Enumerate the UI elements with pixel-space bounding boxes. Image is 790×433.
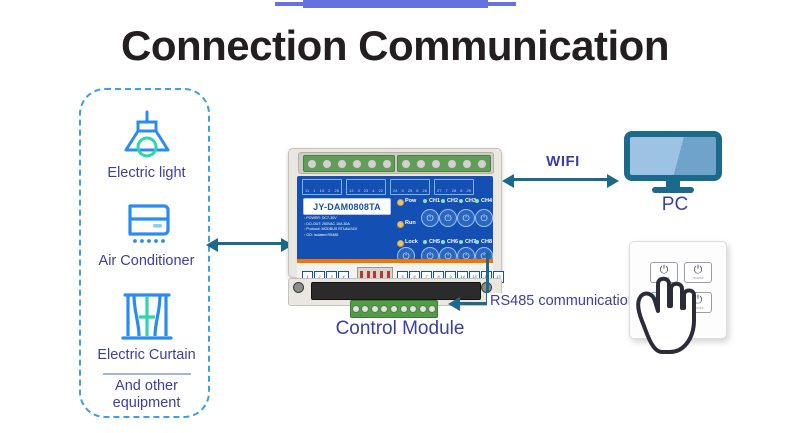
- ch8-led: [475, 240, 479, 244]
- dip-toggle: [373, 271, 376, 278]
- pow-led: [397, 199, 404, 206]
- monitor-stand-base: [652, 187, 694, 193]
- top-accent-bar: [303, 0, 488, 8]
- ch3-led: [459, 199, 463, 203]
- curtain-icon: [81, 288, 212, 346]
- ceiling-lamp-icon: [81, 108, 212, 164]
- relay-pin: 22: [379, 188, 383, 193]
- device-item-electric-curtain[interactable]: Electric Curtain: [81, 288, 212, 364]
- ch4-label: CH4: [481, 198, 492, 204]
- relay-block: 13 3 23 4 22: [346, 179, 386, 195]
- terminal-screw: [462, 159, 472, 169]
- device-label: Air Conditioner: [81, 253, 212, 270]
- terminal-screw: [367, 159, 377, 169]
- terminal-screw: [322, 159, 332, 169]
- ch1-led: [423, 199, 427, 203]
- device-list-panel: Electric light Air Conditioner: [79, 88, 210, 418]
- relay-pin: 11: [305, 188, 309, 193]
- arrow-head-left-icon: [206, 238, 218, 252]
- connector-screw: [419, 305, 427, 313]
- connector-screw: [400, 305, 408, 313]
- device-item-air-conditioner[interactable]: Air Conditioner: [81, 200, 212, 270]
- run-label: Run: [405, 220, 416, 226]
- connector-screw: [361, 305, 369, 313]
- ch8-label: CH8: [481, 239, 492, 245]
- top-terminal-block-left[interactable]: [303, 155, 395, 172]
- connector-screw: [409, 305, 417, 313]
- terminal-screw: [401, 159, 411, 169]
- device-label: Electric light: [81, 165, 212, 182]
- ch5-label: CH5: [429, 239, 440, 245]
- relay-pin: 15: [320, 188, 324, 193]
- connector-screw: [428, 305, 436, 313]
- pc-caption: PC: [625, 194, 725, 216]
- relay-pin: 3: [358, 188, 360, 193]
- other-equipment-line2: equipment: [81, 395, 212, 412]
- panel-divider: [103, 373, 191, 375]
- housing-screw: [293, 282, 304, 293]
- terminal-screw: [447, 159, 457, 169]
- relay-pin: 4: [372, 188, 374, 193]
- ch3-button[interactable]: ⏻: [457, 209, 475, 227]
- pc-monitor: [624, 131, 722, 193]
- terminal-screw: [416, 159, 426, 169]
- pow-label: Pow: [405, 198, 416, 204]
- dip-toggle: [387, 271, 390, 278]
- control-module: 11 1 15 2 25 13 3 23 4 22 24 5 25: [288, 140, 500, 308]
- arrow-head-right-icon: [607, 174, 619, 188]
- monitor-icon: [624, 131, 722, 181]
- relay-pin: 28: [452, 188, 456, 193]
- relay-block: 24 5 25 6 26: [390, 179, 430, 195]
- relay-block: 27 7 28 8 29: [434, 179, 474, 195]
- terminal-screw: [307, 159, 317, 169]
- module-spec-list: POWER: DC7-30V DO-OUT: 250VAC 10A 30A Pr…: [304, 216, 396, 238]
- connector-screw: [390, 305, 398, 313]
- module-top-rail: [298, 152, 494, 174]
- devices-to-module-arrow: [216, 242, 284, 245]
- module-front-face: 11 1 15 2 25 13 3 23 4 22 24 5 25: [297, 176, 493, 261]
- terminal-screw: [431, 159, 441, 169]
- ch6-led: [441, 240, 445, 244]
- module-body: 11 1 15 2 25 13 3 23 4 22 24 5 25: [288, 148, 502, 278]
- terminal-screw: [477, 159, 487, 169]
- ch4-led: [475, 199, 479, 203]
- wifi-label: WIFI: [508, 153, 618, 170]
- other-equipment-line1: And other: [81, 378, 212, 395]
- connector-screw: [352, 305, 360, 313]
- spec-line: GO: Isolated RS485: [304, 233, 396, 239]
- lock-label: Lock: [405, 239, 418, 245]
- ch1-button[interactable]: ⏻: [421, 209, 439, 227]
- ch4-button[interactable]: ⏻: [475, 209, 493, 227]
- relay-pin: 6: [416, 188, 418, 193]
- wifi-arrow: [512, 178, 610, 181]
- ch2-button[interactable]: ⏻: [439, 209, 457, 227]
- lock-led: [397, 240, 404, 247]
- relay-pin: 23: [364, 188, 368, 193]
- arrow-head-left-icon: [448, 297, 460, 311]
- ch2-led: [441, 199, 445, 203]
- relay-pin: 2: [328, 188, 330, 193]
- top-terminal-block-right[interactable]: [397, 155, 491, 172]
- connector-screw: [380, 305, 388, 313]
- arrow-head-left-icon: [502, 174, 514, 188]
- relay-pin: 1: [313, 188, 315, 193]
- device-label: Electric Curtain: [81, 347, 212, 364]
- relay-pin: 24: [393, 188, 397, 193]
- relay-pin: 25: [335, 188, 339, 193]
- other-equipment-label: And other equipment: [81, 378, 212, 412]
- relay-pin: 25: [408, 188, 412, 193]
- relay-pin: 29: [467, 188, 471, 193]
- ch2-label: CH2: [447, 198, 458, 204]
- terminal-screw: [337, 159, 347, 169]
- relay-pin: 7: [446, 188, 448, 193]
- dip-toggle: [367, 271, 370, 278]
- relay-diagram-row: 11 1 15 2 25 13 3 23 4 22 24 5 25: [302, 179, 474, 195]
- relay-pin: 8: [460, 188, 462, 193]
- ch7-led: [459, 240, 463, 244]
- dip-toggle: [360, 271, 363, 278]
- hand-pointer-icon: [628, 268, 700, 354]
- relay-pin: 13: [349, 188, 353, 193]
- relay-pin: 27: [437, 188, 441, 193]
- ch1-label: CH1: [429, 198, 440, 204]
- terminal-screw: [382, 159, 392, 169]
- connector-screw: [371, 305, 379, 313]
- dip-toggle: [380, 271, 383, 278]
- page-title: Connection Communication: [0, 22, 790, 70]
- device-item-electric-light[interactable]: Electric light: [81, 108, 212, 182]
- relay-pin: 5: [402, 188, 404, 193]
- bottom-green-connector[interactable]: [350, 300, 438, 318]
- ch5-led: [423, 240, 427, 244]
- terminal-screw: [352, 159, 362, 169]
- relay-block: 11 1 15 2 25: [302, 179, 342, 195]
- control-module-caption: Control Module: [300, 318, 500, 340]
- module-model-label: JY-DAM0808TA: [303, 198, 391, 215]
- relay-pin: 26: [423, 188, 427, 193]
- run-led: [397, 221, 404, 228]
- air-conditioner-icon: [81, 200, 212, 252]
- ch6-label: CH6: [447, 239, 458, 245]
